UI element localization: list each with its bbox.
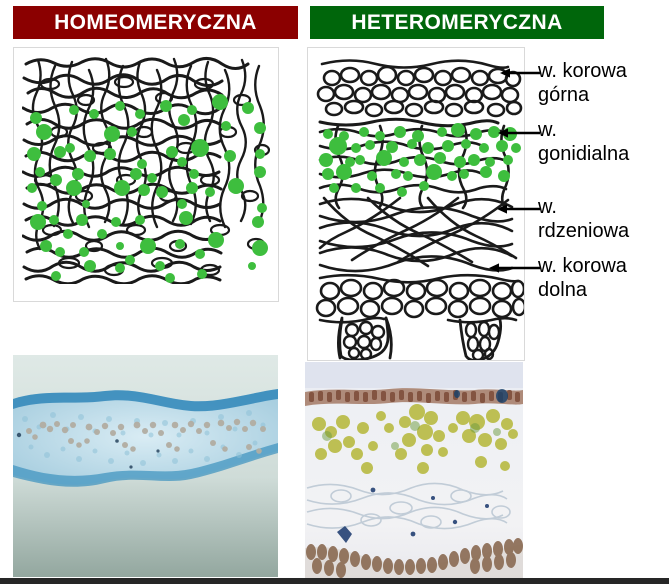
upper-cortex-cells (318, 61, 521, 117)
micrograph-heteromerous-image (305, 362, 523, 578)
lower-cortex-cells (317, 275, 524, 322)
heteromerous-illustration (308, 48, 524, 360)
micrograph-homeomerous-image (13, 355, 278, 577)
micrograph-homeomerous (13, 355, 278, 577)
label-medulla: w. rdzeniowa (538, 196, 666, 243)
leader-line-medulla (497, 202, 540, 216)
algal-cells-homeomerous (27, 94, 268, 283)
arrow-icon (500, 66, 540, 80)
leader-line-algal-layer (498, 126, 540, 140)
bottom-strip (0, 578, 669, 584)
micrograph-heteromerous (305, 362, 523, 578)
arrow-icon (498, 126, 540, 140)
medulla-hyphae (320, 198, 516, 271)
rhizines (338, 318, 500, 360)
diagram-homeomerous-thallus (13, 47, 279, 302)
header-banner-heteromeryczna: HETEROMERYCZNA (310, 6, 604, 39)
leader-line-lower-cortex (489, 261, 540, 275)
arrow-icon (489, 261, 540, 275)
leader-line-upper-cortex (500, 66, 540, 80)
diagram-heteromerous-thallus (307, 47, 525, 361)
header-banner-homeomeryczna: HOMEOMERYCZNA (13, 6, 298, 39)
label-algal-layer: w. gonidialna (538, 119, 666, 166)
arrow-icon (497, 202, 540, 216)
homeomerous-illustration (14, 48, 278, 301)
figure-root: HOMEOMERYCZNA HETEROMERYCZNA (0, 0, 669, 584)
label-upper-cortex: w. korowa górna (538, 60, 666, 107)
label-lower-cortex: w. korowa dolna (538, 255, 666, 302)
